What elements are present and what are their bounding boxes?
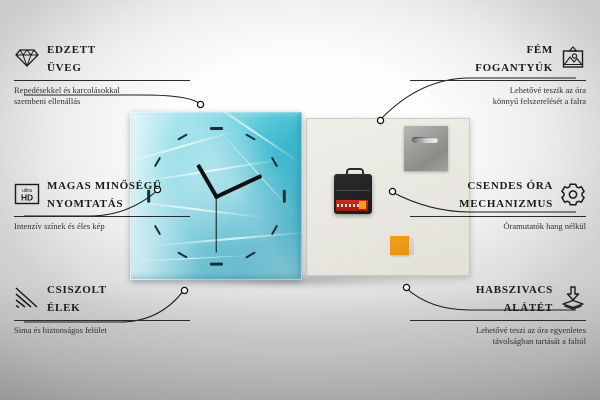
title-line-2: FOGANTYÚK: [475, 62, 553, 74]
callout-title: CSENDES ÓRA MECHANIZMUS: [459, 176, 553, 212]
svg-text:HD: HD: [21, 193, 33, 203]
metal-hanger-plate: [404, 126, 448, 171]
callout-silent-mechanism[interactable]: CSENDES ÓRA MECHANIZMUS Óramutatók hang …: [410, 176, 586, 232]
diagonal-lines-icon: [14, 285, 40, 311]
callout-head: CSISZOLT ÉLEK: [14, 280, 190, 316]
callout-head: FÉM FOGANTYÚK: [410, 40, 586, 76]
callout-title: CSISZOLT ÉLEK: [47, 280, 107, 316]
callout-head: EDZETT ÜVEG: [14, 40, 190, 76]
callout-metal-handles[interactable]: FÉM FOGANTYÚK Lehetővé teszik az óra kön…: [410, 40, 586, 106]
mechanism-hanger-lug: [346, 168, 364, 178]
subtitle-line-1: Lehetővé teszik az óra: [510, 85, 586, 95]
battery-label: [336, 200, 368, 211]
clock-center-hub: [214, 194, 219, 199]
callout-rule: [410, 80, 586, 81]
callout-head: HABSZIVACS ALÁTÉT: [410, 280, 586, 316]
clock-tick: [283, 190, 286, 203]
callout-title: FÉM FOGANTYÚK: [475, 40, 553, 76]
title-line-2: MECHANIZMUS: [459, 198, 553, 210]
clock-mechanism-box: [334, 174, 372, 214]
battery-terminal: [359, 201, 366, 209]
title-line-1: FÉM: [526, 44, 553, 56]
title-line-1: HABSZIVACS: [476, 284, 553, 296]
callout-subtitle: Sima és biztonságos felület: [14, 325, 190, 336]
foam-pad-edge: [409, 238, 414, 255]
callout-title: MAGAS MINŐSÉGŰ NYOMTATÁS: [47, 176, 162, 212]
callout-head: ultra HD MAGAS MINŐSÉGŰ NYOMTATÁS: [14, 176, 190, 212]
title-line-1: CSENDES ÓRA: [467, 180, 553, 192]
subtitle-line-1: Óramutatók hang nélkül: [503, 221, 586, 231]
callout-title: EDZETT ÜVEG: [47, 40, 96, 76]
title-line-1: MAGAS MINŐSÉGŰ: [47, 180, 162, 192]
subtitle-line-1: Lehetővé teszi az óra egyenletes: [476, 325, 586, 335]
callout-rule: [14, 320, 190, 321]
second-hand: [215, 197, 216, 253]
clock-tick: [210, 127, 223, 130]
callout-rule: [14, 216, 190, 217]
callout-subtitle: Lehetővé teszik az óra könnyű felszerelé…: [410, 85, 586, 106]
subtitle-line-2: könnyű felszerelését a falra: [493, 96, 586, 106]
callout-subtitle: Lehetővé teszi az óra egyenletes távolsá…: [410, 325, 586, 346]
subtitle-line-2: szembeni ellenállás: [14, 96, 80, 106]
picture-hanger-icon: [560, 45, 586, 71]
callout-subtitle: Repedésekkel és karcolásokkal szembeni e…: [14, 85, 190, 106]
ultra-hd-icon: ultra HD: [14, 181, 40, 207]
gear-icon: [560, 181, 586, 207]
callout-rule: [410, 320, 586, 321]
callout-subtitle: Intenzív színek és éles kép: [14, 221, 190, 232]
callout-subtitle: Óramutatók hang nélkül: [410, 221, 586, 232]
title-line-2: ALÁTÉT: [504, 302, 553, 314]
title-line-2: ÉLEK: [47, 302, 80, 314]
subtitle-line-2: távolságban tartását a faltól: [493, 336, 586, 346]
press-pad-icon: [560, 285, 586, 311]
title-line-1: EDZETT: [47, 44, 96, 56]
callout-tempered-glass[interactable]: EDZETT ÜVEG Repedésekkel és karcolásokka…: [14, 40, 190, 106]
callout-high-quality-print[interactable]: ultra HD MAGAS MINŐSÉGŰ NYOMTATÁS Intenz…: [14, 176, 190, 232]
subtitle-line-1: Sima és biztonságos felület: [14, 325, 107, 335]
title-line-2: ÜVEG: [47, 62, 82, 74]
subtitle-line-1: Intenzív színek és éles kép: [14, 221, 105, 231]
infographic-canvas: EDZETT ÜVEG Repedésekkel és karcolásokka…: [0, 0, 600, 400]
callout-rule: [410, 216, 586, 217]
subtitle-line-1: Repedésekkel és karcolásokkal: [14, 85, 120, 95]
title-line-1: CSISZOLT: [47, 284, 107, 296]
callout-title: HABSZIVACS ALÁTÉT: [476, 280, 553, 316]
clock-tick: [210, 263, 223, 266]
callout-polished-edges[interactable]: CSISZOLT ÉLEK Sima és biztonságos felüle…: [14, 280, 190, 336]
battery-stripe: [337, 204, 359, 207]
foam-pad: [390, 236, 409, 255]
title-line-2: NYOMTATÁS: [47, 198, 123, 210]
callout-head: CSENDES ÓRA MECHANIZMUS: [410, 176, 586, 212]
diamond-icon: [14, 45, 40, 71]
mechanism-seam: [336, 190, 370, 191]
hanger-slot: [412, 137, 438, 143]
callout-foam-pad[interactable]: HABSZIVACS ALÁTÉT Lehetővé teszi az óra …: [410, 280, 586, 346]
callout-rule: [14, 80, 190, 81]
